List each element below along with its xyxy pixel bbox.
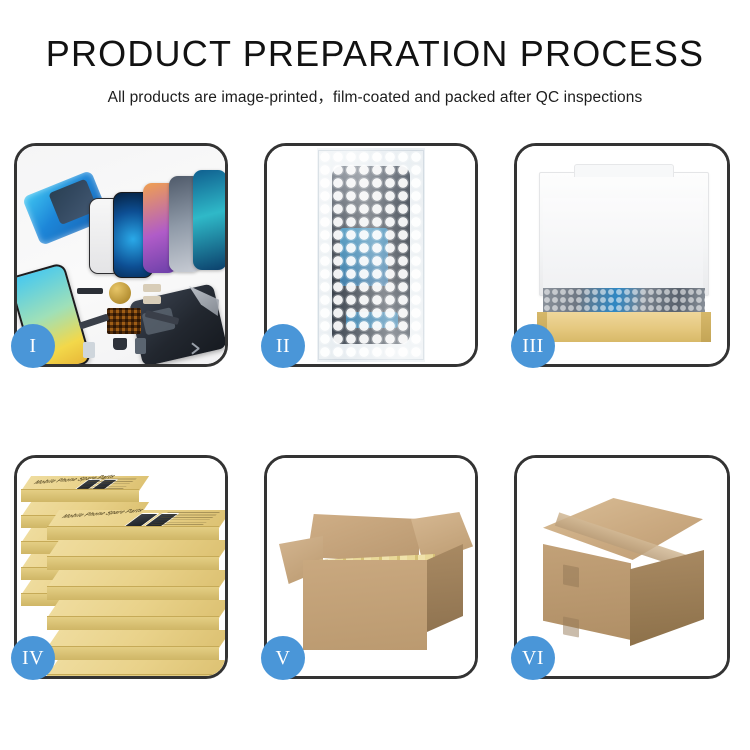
kraft-box [47, 570, 219, 600]
step-badge-1: I [11, 324, 55, 368]
kraft-box [47, 540, 219, 570]
process-steps-grid: I II [14, 143, 736, 679]
earpiece-mesh-icon [77, 288, 103, 294]
flex-cable-icon [79, 314, 110, 330]
kraft-box-base-icon [537, 312, 711, 342]
kraft-box [47, 660, 219, 676]
carton-seam-tab-icon [563, 564, 579, 587]
side-button-icon [143, 296, 161, 304]
kraft-box: Mobile Phone Spare Parts [47, 510, 219, 540]
step-badge-4: IV [11, 636, 55, 680]
step-card-2: II [264, 143, 478, 367]
box-front-face [47, 526, 219, 540]
kraft-box [47, 630, 219, 660]
kraft-box-right-side-icon [701, 312, 711, 342]
kraft-box: Mobile Phone Spare Parts [21, 476, 139, 502]
step-card-1: I [14, 143, 228, 367]
ic-chip-grid-icon [107, 308, 141, 334]
carton-front-face-icon [543, 544, 631, 640]
foam-liner-icon [543, 198, 703, 290]
carton-right-face-icon [630, 550, 704, 646]
wrapped-items-row-icon [543, 288, 705, 314]
page-title: PRODUCT PREPARATION PROCESS [0, 34, 750, 74]
step-badge-3: III [511, 324, 555, 368]
carton-seam-tab-icon [563, 616, 579, 637]
box-front-face [47, 586, 219, 600]
step-badge-2: II [261, 324, 305, 368]
camera-module-icon [83, 342, 95, 358]
box-front-face [21, 489, 139, 502]
step-badge-6: VI [511, 636, 555, 680]
step-card-5: V [264, 455, 478, 679]
loudspeaker-icon [113, 338, 127, 350]
page-subtitle: All products are image-printed，film-coat… [0, 85, 750, 107]
carton-front-face-icon [303, 560, 427, 650]
box-front-face [47, 674, 219, 676]
step-badge-5: V [261, 636, 305, 680]
step-card-4: Mobile Phone Spare Parts [14, 455, 228, 679]
box-front-face [47, 556, 219, 570]
screws-icon [191, 340, 207, 356]
box-front-face [47, 616, 219, 630]
side-button-icon [143, 284, 161, 292]
battery-connector-icon [135, 338, 146, 354]
phone-screen-teal-icon [193, 170, 225, 270]
step-card-6: VI [514, 455, 730, 679]
speaker-coil-icon [109, 282, 131, 304]
kraft-box [47, 600, 219, 630]
box-front-face [47, 646, 219, 660]
product-preparation-infographic: PRODUCT PREPARATION PROCESS All products… [0, 0, 750, 750]
step-card-3: III [514, 143, 730, 367]
header: PRODUCT PREPARATION PROCESS All products… [0, 0, 750, 107]
